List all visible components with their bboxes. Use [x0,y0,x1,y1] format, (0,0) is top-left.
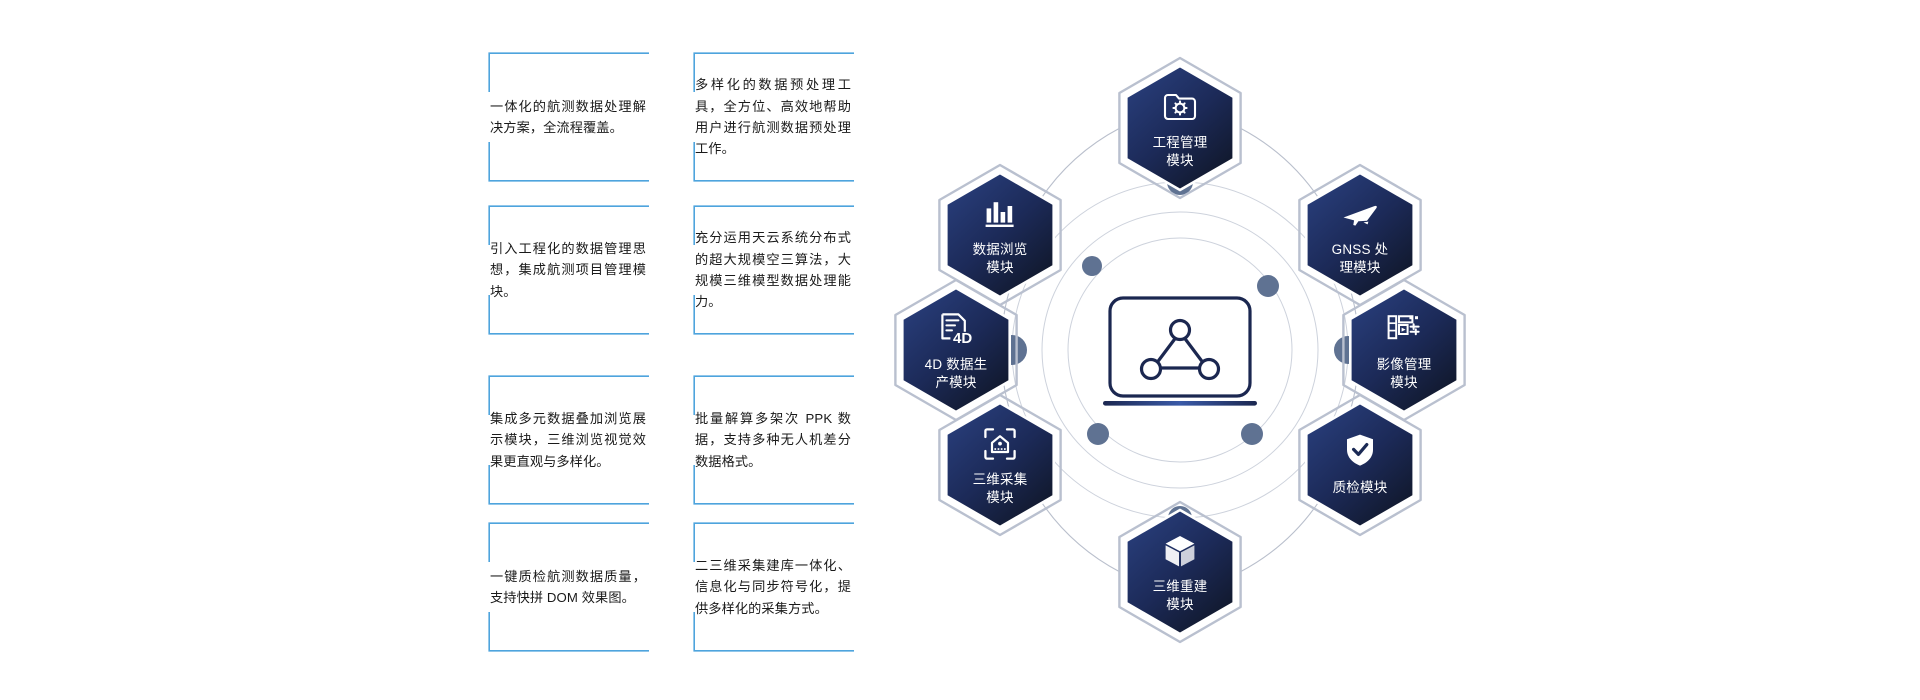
module-label: 影像管理 模块 [1340,356,1468,391]
module-project-management[interactable]: 工程管理 模块 [1116,57,1244,199]
feature-box-grid: 一体化的航测数据处理解决方案，全流程覆盖。 多样化的数据预处理工具，全方位、高效… [488,52,858,652]
feature-box-6: 批量解算多架次 PPK 数据，支持多种无人机差分数据格式。 [693,375,855,505]
feature-text: 集成多元数据叠加浏览展示模块，三维浏览视觉效果更直观与多样化。 [488,408,650,472]
module-quality-check[interactable]: 质检模块 [1296,394,1424,536]
feature-box-8: 二三维采集建库一体化、信息化与同步符号化，提供多样化的采集方式。 [693,522,855,652]
module-label: 三维重建 模块 [1116,578,1244,613]
feature-text: 充分运用天云系统分布式的超大规模空三算法，大规模三维模型数据处理能力。 [693,227,855,313]
orbit-dot-upper-right [1257,275,1279,297]
orbit-dot-lower-right [1241,423,1263,445]
svg-text:4D: 4D [953,330,972,346]
feature-text: 一体化的航测数据处理解决方案，全流程覆盖。 [488,96,650,139]
module-label-line2: 产模块 [892,374,1020,391]
module-label-line1: 数据浏览 [936,241,1064,258]
module-label-line2: 理模块 [1296,259,1424,276]
feature-box-5: 集成多元数据叠加浏览展示模块，三维浏览视觉效果更直观与多样化。 [488,375,650,505]
module-data-browse[interactable]: 数据浏览 模块 [936,164,1064,306]
film-image-icon [1340,309,1468,349]
feature-text: 多样化的数据预处理工具，全方位、高效地帮助用户进行航测数据预处理工作。 [693,74,855,160]
orbit-dot-upper-left [1082,256,1102,276]
cube-icon [1116,531,1244,571]
folder-gear-icon [1116,87,1244,127]
module-label-line2: 模块 [1116,152,1244,169]
module-label-line2: 模块 [936,259,1064,276]
module-label-line1: 三维重建 [1116,578,1244,595]
feature-text: 批量解算多架次 PPK 数据，支持多种无人机差分数据格式。 [693,408,855,472]
shield-check-icon [1296,430,1424,470]
module-label-line2: 模块 [1340,374,1468,391]
feature-box-1: 一体化的航测数据处理解决方案，全流程覆盖。 [488,52,650,182]
feature-text: 一键质检航测数据质量，支持快拼 DOM 效果图。 [488,566,650,609]
bar-chart-icon [936,194,1064,234]
module-label-line1: 4D 数据生 [892,356,1020,373]
module-label: 数据浏览 模块 [936,241,1064,276]
center-laptop-network-icon [1103,298,1257,406]
module-label-line1: 影像管理 [1340,356,1468,373]
module-label: GNSS 处 理模块 [1296,241,1424,276]
feature-box-4: 充分运用天云系统分布式的超大规模空三算法，大规模三维模型数据处理能力。 [693,205,855,335]
scan-house-icon [936,424,1064,464]
feature-box-7: 一键质检航测数据质量，支持快拼 DOM 效果图。 [488,522,650,652]
airplane-icon [1296,194,1424,234]
module-label-line1: 工程管理 [1116,134,1244,151]
module-label: 质检模块 [1296,479,1424,496]
module-wheel: 工程管理 模块 GNSS 处 理模块 [870,20,1490,680]
module-label-line1: 质检模块 [1296,479,1424,496]
module-label: 工程管理 模块 [1116,134,1244,169]
infographic-page: 一体化的航测数据处理解决方案，全流程覆盖。 多样化的数据预处理工具，全方位、高效… [0,0,1920,700]
module-label-line2: 模块 [1116,596,1244,613]
module-label: 4D 数据生 产模块 [892,356,1020,391]
module-label-line1: GNSS 处 [1296,241,1424,258]
module-label: 三维采集 模块 [936,471,1064,506]
feature-text: 引入工程化的数据管理思想，集成航测项目管理模块。 [488,238,650,302]
feature-box-2: 多样化的数据预处理工具，全方位、高效地帮助用户进行航测数据预处理工作。 [693,52,855,182]
module-label-line1: 三维采集 [936,471,1064,488]
feature-text: 二三维采集建库一体化、信息化与同步符号化，提供多样化的采集方式。 [693,555,855,619]
module-3d-reconstruction[interactable]: 三维重建 模块 [1116,501,1244,643]
feature-box-3: 引入工程化的数据管理思想，集成航测项目管理模块。 [488,205,650,335]
orbit-dot-lower-left [1087,423,1109,445]
document-4d-icon: 4D [892,309,1020,349]
module-label-line2: 模块 [936,489,1064,506]
